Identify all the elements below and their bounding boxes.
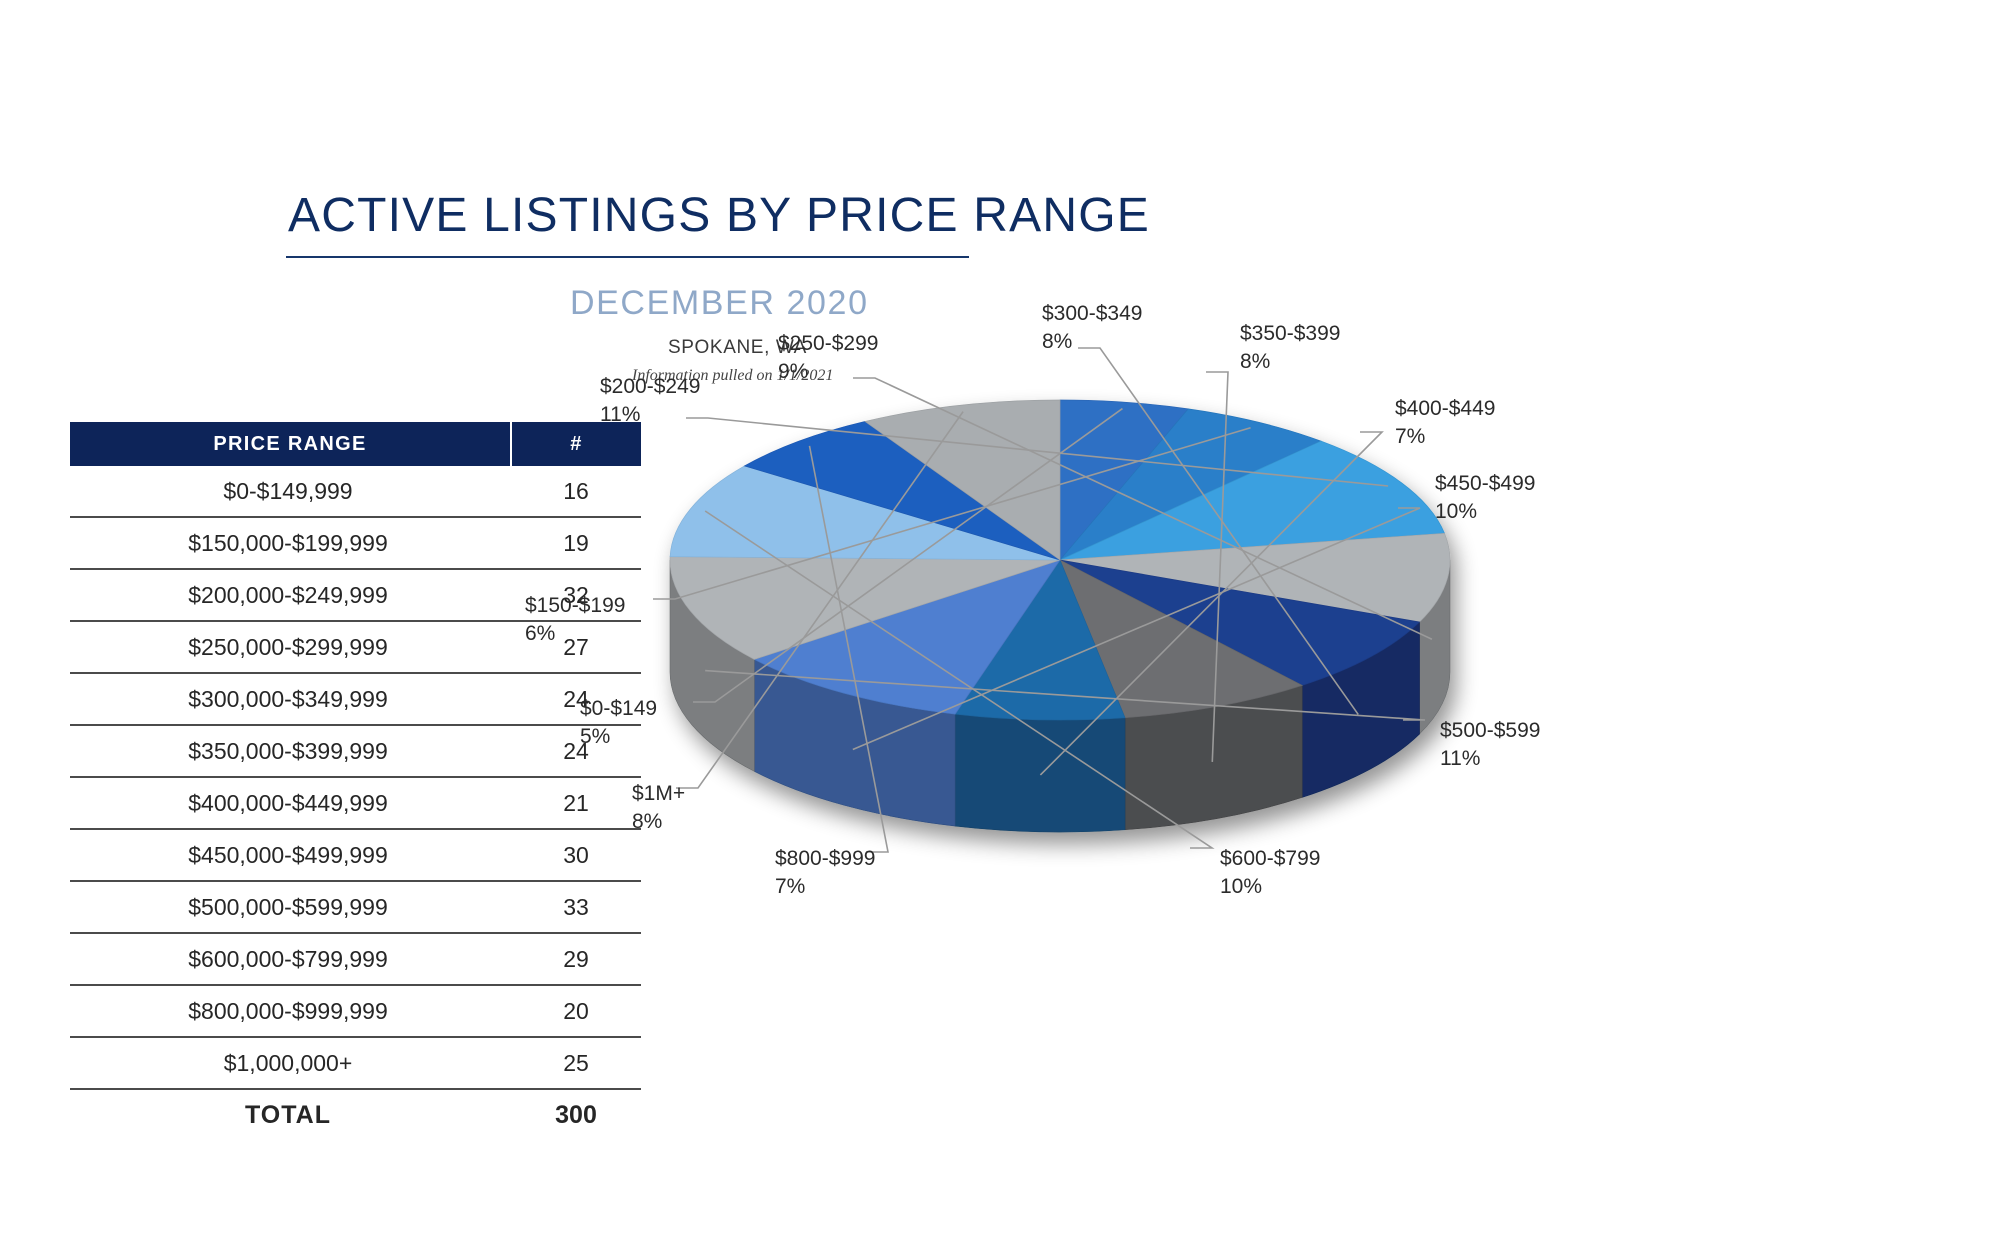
pie-label-150-199: $150-$1996% xyxy=(525,592,625,649)
table-header-row: PRICE RANGE # xyxy=(70,422,641,466)
pie-label-name: $450-$499 xyxy=(1435,472,1535,495)
pie-label-percent: 7% xyxy=(1395,423,1495,451)
pie-label-percent: 8% xyxy=(632,808,685,836)
pie-label-name: $500-$599 xyxy=(1440,719,1540,742)
cell-price-range: $200,000-$249,999 xyxy=(70,569,511,621)
cell-price-range: $400,000-$449,999 xyxy=(70,777,511,829)
cell-price-range: $350,000-$399,999 xyxy=(70,725,511,777)
pie-label-percent: 11% xyxy=(600,401,700,429)
pie-label-800-999: $800-$9997% xyxy=(775,845,875,902)
pie-label-250-299: $250-$2999% xyxy=(778,330,878,387)
table-row: $450,000-$499,99930 xyxy=(70,829,641,881)
column-header-price-range: PRICE RANGE xyxy=(70,422,511,466)
cell-price-range: $600,000-$799,999 xyxy=(70,933,511,985)
pie-label-percent: 7% xyxy=(775,873,875,901)
pie-label-name: $0-$149 xyxy=(580,697,657,720)
pie-label-600-799: $600-$79910% xyxy=(1220,845,1320,902)
pie-label-percent: 10% xyxy=(1220,873,1320,901)
price-range-table: PRICE RANGE # $0-$149,99916$150,000-$199… xyxy=(70,422,641,1140)
page-title: ACTIVE LISTINGS BY PRICE RANGE xyxy=(288,188,1150,243)
pie-label-percent: 10% xyxy=(1435,498,1535,526)
cell-price-range: $0-$149,999 xyxy=(70,466,511,517)
pie-label-name: $350-$399 xyxy=(1240,322,1340,345)
pie-label-name: $800-$999 xyxy=(775,847,875,870)
table-row: $150,000-$199,99919 xyxy=(70,517,641,569)
pie-label-percent: 11% xyxy=(1440,745,1540,773)
table-head: PRICE RANGE # xyxy=(70,422,641,466)
pie-label-300-349: $300-$3498% xyxy=(1042,300,1142,357)
cell-price-range: $500,000-$599,999 xyxy=(70,881,511,933)
pie-label-percent: 9% xyxy=(778,358,878,386)
cell-price-range: $800,000-$999,999 xyxy=(70,985,511,1037)
cell-price-range: $300,000-$349,999 xyxy=(70,673,511,725)
pie-label-name: $150-$199 xyxy=(525,594,625,617)
pie-label-1M: $1M+8% xyxy=(632,780,685,837)
table-total-row: TOTAL300 xyxy=(70,1089,641,1140)
table-body: $0-$149,99916$150,000-$199,99919$200,000… xyxy=(70,466,641,1140)
pie-label-name: $400-$449 xyxy=(1395,397,1495,420)
pie-label-450-499: $450-$49910% xyxy=(1435,470,1535,527)
table-row: $350,000-$399,99924 xyxy=(70,725,641,777)
title-underline-rule xyxy=(286,256,969,258)
pie-label-percent: 8% xyxy=(1240,348,1340,376)
cell-price-range: $250,000-$299,999 xyxy=(70,621,511,673)
price-range-table-container: PRICE RANGE # $0-$149,99916$150,000-$199… xyxy=(70,422,635,1140)
pie-chart-3d xyxy=(620,300,2000,1250)
pie-label-name: $300-$349 xyxy=(1042,302,1142,325)
pie-label-name: $250-$299 xyxy=(778,332,878,355)
cell-price-range: $450,000-$499,999 xyxy=(70,829,511,881)
total-label: TOTAL xyxy=(70,1089,511,1140)
pie-label-percent: 5% xyxy=(580,723,657,751)
cell-price-range: $150,000-$199,999 xyxy=(70,517,511,569)
pie-label-name: $1M+ xyxy=(632,782,685,805)
pie-label-percent: 6% xyxy=(525,620,625,648)
pie-chart-area: $0-$1495%$150-$1996%$200-$24911%$250-$29… xyxy=(620,300,2000,1250)
pie-label-350-399: $350-$3998% xyxy=(1240,320,1340,377)
table-row: $500,000-$599,99933 xyxy=(70,881,641,933)
pie-label-200-249: $200-$24911% xyxy=(600,373,700,430)
pie-label-500-599: $500-$59911% xyxy=(1440,717,1540,774)
pie-label-400-449: $400-$4497% xyxy=(1395,395,1495,452)
pie-label-percent: 8% xyxy=(1042,328,1142,356)
pie-label-0-149: $0-$1495% xyxy=(580,695,657,752)
pie-label-name: $200-$249 xyxy=(600,375,700,398)
table-row: $0-$149,99916 xyxy=(70,466,641,517)
cell-price-range: $1,000,000+ xyxy=(70,1037,511,1089)
table-row: $600,000-$799,99929 xyxy=(70,933,641,985)
pie-top-slices xyxy=(670,400,1450,720)
pie-label-name: $600-$799 xyxy=(1220,847,1320,870)
table-row: $800,000-$999,99920 xyxy=(70,985,641,1037)
table-row: $1,000,000+25 xyxy=(70,1037,641,1089)
table-row: $400,000-$449,99921 xyxy=(70,777,641,829)
table-row: $300,000-$349,99924 xyxy=(70,673,641,725)
